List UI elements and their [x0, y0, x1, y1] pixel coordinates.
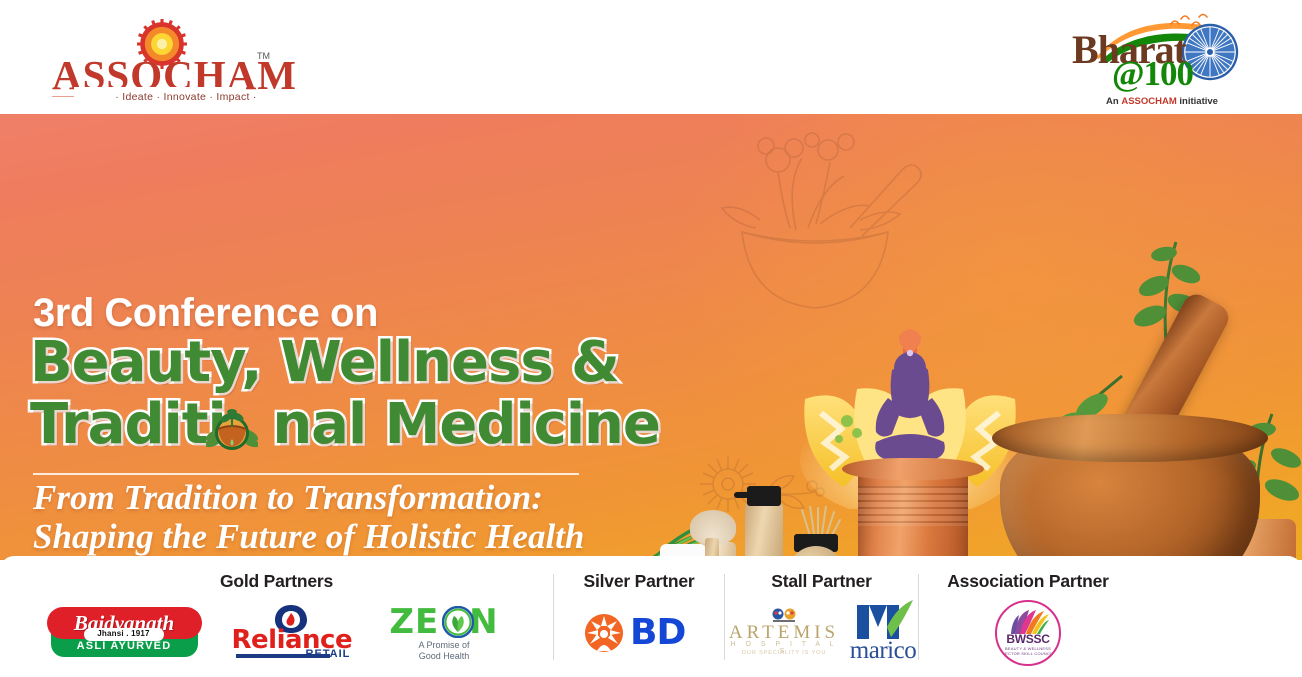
marico-logo[interactable]: marico: [835, 603, 918, 663]
banner-header: ASSOCHAM TM · Ideate · Innovate · Impact…: [0, 0, 1302, 115]
zeon-tagline-line2: Good Health: [382, 651, 507, 662]
baidyanath-logo[interactable]: ASLI AYURVED Baidyanath Jhansi . 1917: [47, 607, 202, 659]
stall-partner-column: Stall Partner ARTEMIS H O S P I T A L S …: [725, 556, 918, 677]
conference-tagline-line1: From Tradition to Transformation:: [33, 478, 653, 517]
association-partner-logos: BWSSC BEAUTY & WELLNESS SECTOR SKILL COU…: [919, 596, 1137, 670]
assocham-trademark: TM: [257, 51, 270, 61]
dispenser-nozzle: [734, 492, 756, 498]
baidyanath-year: Jhansi . 1917: [84, 629, 164, 638]
bwssc-wordmark: BWSSC: [997, 633, 1059, 646]
bwssc-plume-icon: [1011, 608, 1049, 634]
stall-partner-title: Stall Partner: [725, 571, 918, 592]
stall-partner-logos: ARTEMIS H O S P I T A L S OUR SPECIALITY…: [725, 596, 918, 670]
tagline-rule-top: [33, 473, 579, 475]
mortar-rim: [992, 414, 1268, 462]
bwssc-logo[interactable]: BWSSC BEAUTY & WELLNESS SECTOR SKILL COU…: [995, 600, 1061, 666]
assocham-logo: ASSOCHAM TM · Ideate · Innovate · Impact…: [52, 18, 272, 106]
zeon-word-b: N: [469, 602, 498, 642]
conference-title-line2: TraditiOnal Medicine: [30, 394, 660, 456]
baidyanath-sub: ASLI AYURVED: [51, 640, 198, 652]
conference-title-line1: Beauty, Wellness &: [30, 332, 619, 394]
herb-mortar-sketch-icon: [700, 124, 930, 354]
artemis-emblem-icon: [769, 608, 799, 623]
assocham-tagline: · Ideate · Innovate · Impact ·: [74, 91, 298, 103]
partners-bar: Gold Partners ASLI AYURVED Baidyanath Jh…: [0, 556, 1302, 677]
bharat-at-100-logo: Bharat @100 An ASSOCHAM initiative: [1072, 8, 1252, 108]
gold-partners-column: Gold Partners ASLI AYURVED Baidyanath Jh…: [0, 556, 553, 677]
conference-title-line2-a: Traditi: [30, 392, 226, 457]
yoga-meditation-silhouette-icon: [868, 344, 952, 474]
bwssc-sub-line2: SECTOR SKILL COUNCIL: [997, 651, 1059, 656]
hero-section: 3rd Conference on Beauty, Wellness & Tra…: [0, 114, 1302, 560]
bharat-initiative-line: An ASSOCHAM initiative: [1072, 96, 1252, 107]
bd-sunburst-icon: [584, 613, 624, 653]
bwssc-sub: BEAUTY & WELLNESS SECTOR SKILL COUNCIL: [997, 646, 1059, 656]
conference-title-line2-b: nal Medicine: [272, 392, 660, 457]
bharat-initiative-brand: ASSOCHAM: [1121, 96, 1176, 107]
zeon-word-a: ZE: [389, 602, 439, 642]
lotion-dispenser: [745, 502, 783, 560]
reliance-retail-logo[interactable]: Reliance RETAIL: [232, 606, 352, 660]
conference-tagline-line2: Shaping the Future of Holistic Health: [33, 517, 653, 556]
assocham-tagline-wrap: · Ideate · Innovate · Impact ·: [74, 87, 246, 105]
bharat-initiative-prefix: An: [1106, 96, 1121, 107]
gold-partners-title: Gold Partners: [0, 571, 553, 592]
silver-partner-title: Silver Partner: [554, 571, 724, 592]
zeon-leaf-circle-icon: [442, 606, 474, 638]
herbal-pot-icon: [206, 405, 258, 457]
reliance-retail-sub: RETAIL: [306, 648, 351, 660]
zeon-logo[interactable]: ZEON A Promise of Good Health: [382, 604, 507, 662]
event-banner: ASSOCHAM TM · Ideate · Innovate · Impact…: [0, 0, 1302, 677]
association-partner-column: Association Partner BWSSC BEAUTY & WELLN…: [919, 556, 1137, 677]
bd-logo[interactable]: BD: [584, 611, 694, 655]
pedestal-rings: [858, 486, 968, 526]
artemis-strapline: OUR SPECIALITY IS YOU: [725, 650, 843, 656]
association-partner-title: Association Partner: [919, 571, 1137, 592]
gold-partners-logos: ASLI AYURVED Baidyanath Jhansi . 1917 Re…: [0, 596, 553, 670]
marico-wordmark: marico: [835, 637, 931, 665]
marico-m-icon: [853, 599, 915, 639]
artemis-logo[interactable]: ARTEMIS H O S P I T A L S OUR SPECIALITY…: [725, 608, 827, 658]
zeon-tagline: A Promise of Good Health: [382, 640, 507, 662]
silver-partner-logos: BD: [554, 596, 724, 670]
zeon-tagline-line1: A Promise of: [382, 640, 507, 651]
bharat-hundred: @100: [1112, 56, 1193, 91]
baidyanath-year-chip: Jhansi . 1917: [84, 628, 164, 641]
silver-partner-column: Silver Partner BD: [554, 556, 724, 677]
bd-wordmark: BD: [630, 611, 685, 655]
conference-tagline: From Tradition to Transformation: Shapin…: [33, 478, 653, 556]
bharat-initiative-suffix: initiative: [1177, 96, 1218, 107]
